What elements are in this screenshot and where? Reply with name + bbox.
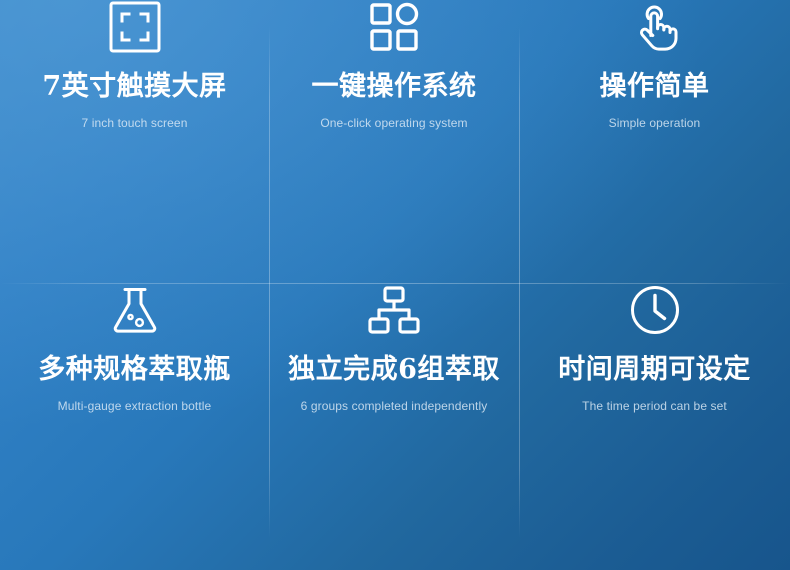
- feature-subtitle: 6 groups completed independently: [301, 399, 488, 413]
- feature-cell-one-click-os[interactable]: 一键操作系统 One-click operating system: [269, 0, 519, 283]
- feature-cell-six-groups[interactable]: 独立完成6组萃取 6 groups completed independentl…: [269, 283, 519, 570]
- feature-cell-time-period[interactable]: 时间周期可设定 The time period can be set: [519, 283, 790, 570]
- feature-subtitle: 7 inch touch screen: [82, 116, 188, 130]
- product-feature-highlights-panel: 7英寸触摸大屏 7 inch touch screen 一键操作系统 One-c…: [0, 0, 790, 570]
- feature-cell-simple-operation[interactable]: 操作简单 Simple operation: [519, 0, 790, 283]
- feature-title: 时间周期可设定: [558, 355, 751, 385]
- feature-grid: 7英寸触摸大屏 7 inch touch screen 一键操作系统 One-c…: [0, 0, 790, 570]
- feature-title: 操作简单: [600, 72, 710, 102]
- clock-icon: [628, 283, 682, 337]
- app-grid-icon: [367, 0, 421, 54]
- feature-subtitle: Simple operation: [609, 116, 701, 130]
- feature-title: 7英寸触摸大屏: [42, 72, 226, 102]
- feature-cell-extraction-bottle[interactable]: 多种规格萃取瓶 Multi-gauge extraction bottle: [0, 283, 269, 570]
- screen-frame-icon: [108, 0, 162, 54]
- feature-subtitle: Multi-gauge extraction bottle: [58, 399, 212, 413]
- feature-title: 多种规格萃取瓶: [38, 355, 231, 385]
- feature-title: 一键操作系统: [312, 72, 477, 102]
- flask-icon: [108, 283, 162, 337]
- feature-cell-touch-screen[interactable]: 7英寸触摸大屏 7 inch touch screen: [0, 0, 269, 283]
- feature-title: 独立完成6组萃取: [288, 355, 500, 385]
- hierarchy-icon: [367, 283, 421, 337]
- feature-subtitle: The time period can be set: [582, 399, 727, 413]
- tap-hand-icon: [628, 0, 682, 54]
- feature-subtitle: One-click operating system: [320, 116, 467, 130]
